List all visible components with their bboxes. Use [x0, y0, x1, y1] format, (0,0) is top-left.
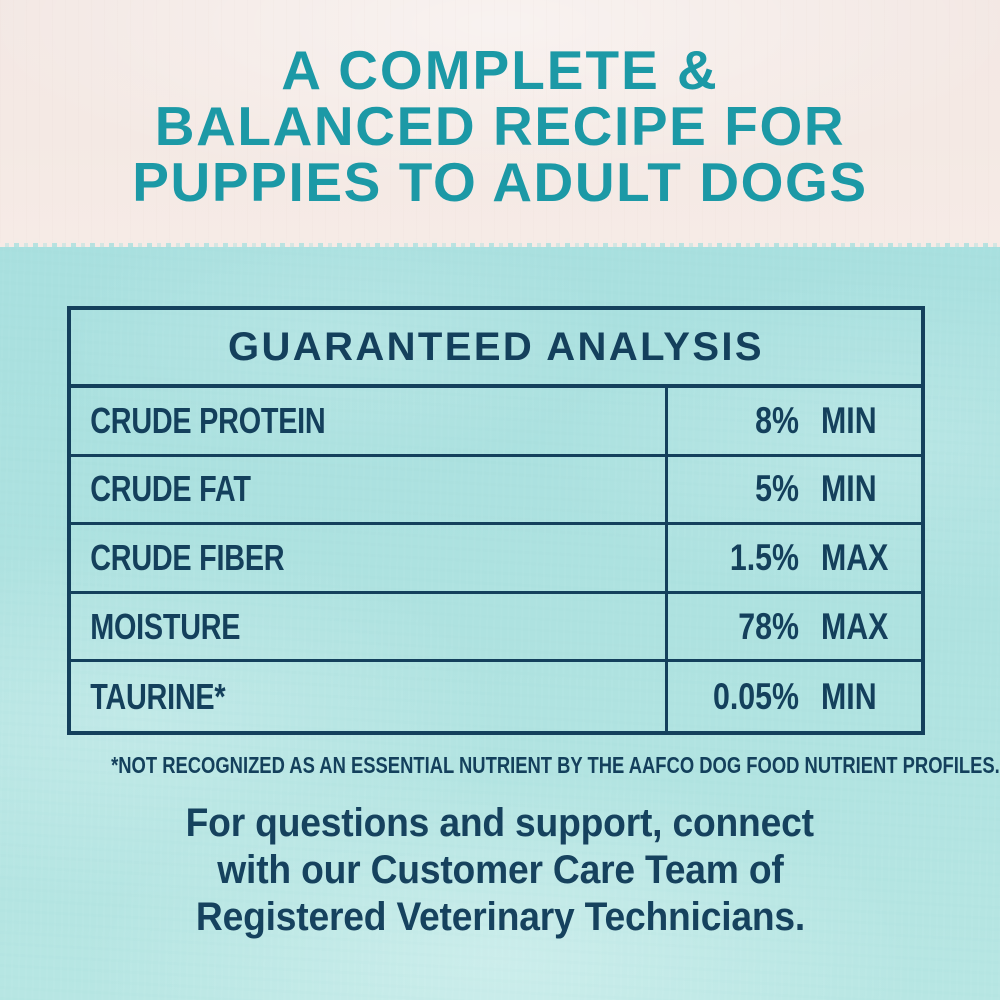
table-row: CRUDE FIBER 1.5% MAX [71, 525, 921, 594]
table-row: CRUDE FAT 5% MIN [71, 457, 921, 526]
nutrient-label: MOISTURE [71, 606, 546, 648]
support-line-2: with our Customer Care Team of [0, 847, 1000, 894]
nutrient-amount: 8% [692, 400, 799, 442]
footnote-text: *NOT RECOGNIZED AS AN ESSENTIAL NUTRIENT… [111, 752, 1000, 779]
guaranteed-analysis-title: GUARANTEED ANALYSIS [228, 325, 764, 370]
nutrient-label: TAURINE* [71, 676, 546, 718]
nutrient-amount: 78% [692, 606, 799, 648]
guaranteed-analysis-rows: CRUDE PROTEIN 8% MIN CRUDE FAT 5% MIN CR… [71, 388, 921, 731]
nutrient-value-cell: 78% MAX [668, 594, 921, 660]
nutrient-value-cell: 0.05% MIN [668, 662, 921, 731]
nutrient-value-cell: 5% MIN [668, 457, 921, 523]
nutrient-label: CRUDE FIBER [71, 537, 546, 579]
support-copy: For questions and support, connect with … [0, 800, 1000, 941]
nutrient-qualifier: MAX [821, 606, 888, 648]
nutrient-value-cell: 1.5% MAX [668, 525, 921, 591]
support-line-1: For questions and support, connect [0, 800, 1000, 847]
nutrient-qualifier: MIN [821, 400, 877, 442]
product-label-panel: A COMPLETE & BALANCED RECIPE FOR PUPPIES… [0, 0, 1000, 1000]
nutrient-qualifier: MIN [821, 676, 877, 718]
table-row: TAURINE* 0.05% MIN [71, 662, 921, 731]
footnote: *NOT RECOGNIZED AS AN ESSENTIAL NUTRIENT… [0, 752, 1000, 779]
nutrient-amount: 0.05% [692, 676, 799, 718]
guaranteed-analysis-header: GUARANTEED ANALYSIS [71, 310, 921, 388]
headline-line-3: PUPPIES TO ADULT DOGS [0, 154, 1000, 210]
support-line-3: Registered Veterinary Technicians. [0, 894, 1000, 941]
guaranteed-analysis-table: GUARANTEED ANALYSIS CRUDE PROTEIN 8% MIN… [67, 306, 925, 735]
headline: A COMPLETE & BALANCED RECIPE FOR PUPPIES… [0, 42, 1000, 210]
nutrient-amount: 5% [692, 468, 799, 510]
headline-line-1: A COMPLETE & [0, 42, 1000, 98]
nutrient-label: CRUDE FAT [71, 468, 546, 510]
nutrient-value-cell: 8% MIN [668, 388, 921, 454]
nutrient-qualifier: MIN [821, 468, 877, 510]
table-row: MOISTURE 78% MAX [71, 594, 921, 663]
nutrient-amount: 1.5% [692, 537, 799, 579]
nutrient-label: CRUDE PROTEIN [71, 400, 546, 442]
headline-line-2: BALANCED RECIPE FOR [0, 98, 1000, 154]
nutrient-qualifier: MAX [821, 537, 888, 579]
table-row: CRUDE PROTEIN 8% MIN [71, 388, 921, 457]
